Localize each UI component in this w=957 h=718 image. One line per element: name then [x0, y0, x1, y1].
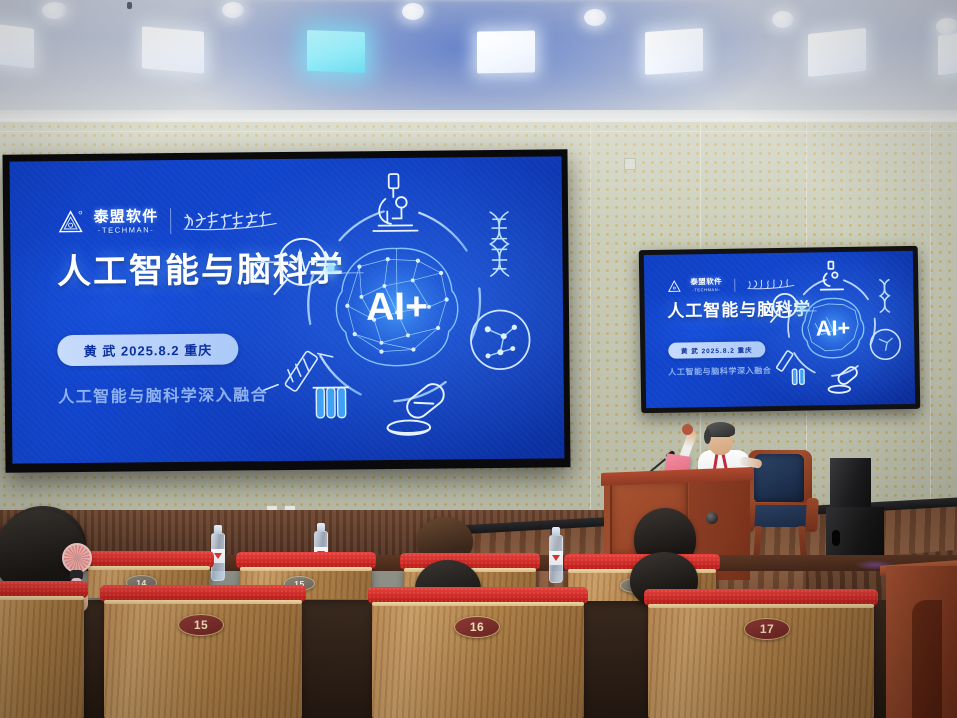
dna-helix-icon — [491, 212, 509, 276]
molecule-icon — [871, 329, 901, 359]
capsule-pill-icon — [828, 364, 859, 392]
main-led-screen[interactable]: 泰盟软件 -TECHMAN- — [2, 149, 570, 472]
ceiling-panel-light-tinted — [307, 30, 365, 73]
ceiling-downlight — [936, 18, 957, 35]
pa-speaker-top — [830, 458, 871, 508]
seat-17-front[interactable]: 17 — [648, 600, 874, 718]
seat-15-front[interactable]: 15 — [104, 596, 302, 718]
ceiling-sensor-icon — [127, 2, 132, 9]
pulse-magnifier-icon — [771, 293, 798, 321]
seat-front-left-edge[interactable] — [0, 592, 84, 718]
ceiling-panel-light — [477, 30, 535, 73]
techman-logo-icon — [57, 209, 84, 235]
ceiling-downlight — [42, 2, 67, 19]
molecule-icon — [471, 310, 530, 369]
presentation-slide: 泰盟软件 -TECHMAN- — [10, 156, 565, 463]
dna-helix-icon — [880, 279, 889, 311]
chair-armrest-right — [805, 498, 819, 533]
ceiling-panel-light — [938, 30, 957, 75]
techman-logo-icon — [667, 279, 681, 292]
ai-plus-label: AI+ — [816, 315, 851, 341]
presenter-glasses-icon — [710, 436, 730, 441]
brand-name-cn: 泰盟软件 — [690, 278, 722, 286]
wall-seam — [930, 122, 931, 518]
logo-divider — [170, 208, 171, 234]
seat-number-plate: 16 — [454, 616, 500, 638]
seat-trim — [104, 600, 302, 604]
brand-name-en: -TECHMAN- — [94, 226, 159, 234]
test-tubes-icon — [793, 369, 805, 384]
ceiling-panel-light — [142, 26, 204, 73]
seat-trim — [240, 567, 372, 571]
brand-wordmark: 泰盟软件 -TECHMAN- — [690, 278, 722, 292]
ceiling-downlight — [584, 9, 606, 26]
brand-wordmark: 泰盟软件 -TECHMAN- — [93, 209, 158, 234]
ceiling-downlight — [772, 11, 794, 28]
slide-speaker-pill: 黄 武 2025.8.2 重庆 — [668, 341, 766, 359]
ceiling-panel-light — [0, 23, 34, 68]
ai-brain-science-graphic: AI+ — [236, 165, 559, 452]
wall-outlet-icon — [624, 158, 636, 170]
wall-seam — [590, 122, 591, 518]
ceiling-panel-light — [808, 28, 866, 77]
seat-16-front[interactable]: 16 — [372, 598, 584, 718]
seat-number-plate: 15 — [178, 614, 224, 636]
brand-name-cn: 泰盟软件 — [93, 209, 158, 225]
pa-speaker-stack — [826, 458, 884, 568]
brand-name-en: -TECHMAN- — [690, 288, 722, 292]
ceiling — [0, 0, 957, 122]
ai-brain-science-graphic: AI+ — [754, 256, 912, 402]
wall-seam — [0, 131, 957, 132]
seat-trim — [0, 596, 84, 600]
ceiling-downlight — [402, 3, 424, 20]
bottle-label — [549, 551, 563, 565]
test-tubes-icon — [313, 387, 350, 418]
fan-hub — [73, 554, 81, 562]
conference-hall-photo: 泰盟软件 -TECHMAN- — [0, 0, 957, 718]
ceiling-panel-light — [645, 28, 703, 75]
bottle-cap — [214, 525, 222, 534]
slide-background-glow — [10, 214, 272, 398]
slide-subtitle: 人工智能与脑科学深入融合 — [58, 381, 268, 407]
chair-seat-cushion — [746, 505, 814, 527]
water-bottle — [549, 527, 563, 583]
side-desk-opening — [912, 600, 942, 718]
bottle-cap — [552, 527, 560, 536]
seat-trim — [372, 602, 584, 606]
seat-trim — [648, 604, 874, 608]
presenter-fist — [682, 424, 693, 435]
slide-speaker-pill: 黄 武 2025.8.2 重庆 — [58, 333, 239, 366]
seat-trim — [88, 566, 210, 570]
ai-plus-label: AI+ — [366, 285, 428, 329]
pulse-magnifier-icon — [274, 239, 326, 294]
microscope-icon — [821, 261, 844, 289]
presentation-slide-mirror: 泰盟软件 -TECHMAN- 人工智能与脑科学 黄 武 2025.8.2 重 — [644, 251, 915, 408]
ceiling-downlight — [222, 2, 244, 18]
secondary-monitor[interactable]: 泰盟软件 -TECHMAN- 人工智能与脑科学 黄 武 2025.8.2 重 — [639, 246, 921, 413]
bottle-cap — [317, 523, 325, 532]
microscope-icon — [373, 174, 418, 231]
capsule-pill-icon — [387, 380, 448, 435]
podium-knob-icon — [706, 512, 718, 524]
pa-speaker-port — [832, 530, 840, 546]
logo-divider — [734, 278, 735, 291]
syringe-icon — [776, 350, 793, 371]
seat-number-plate: 17 — [744, 618, 790, 640]
